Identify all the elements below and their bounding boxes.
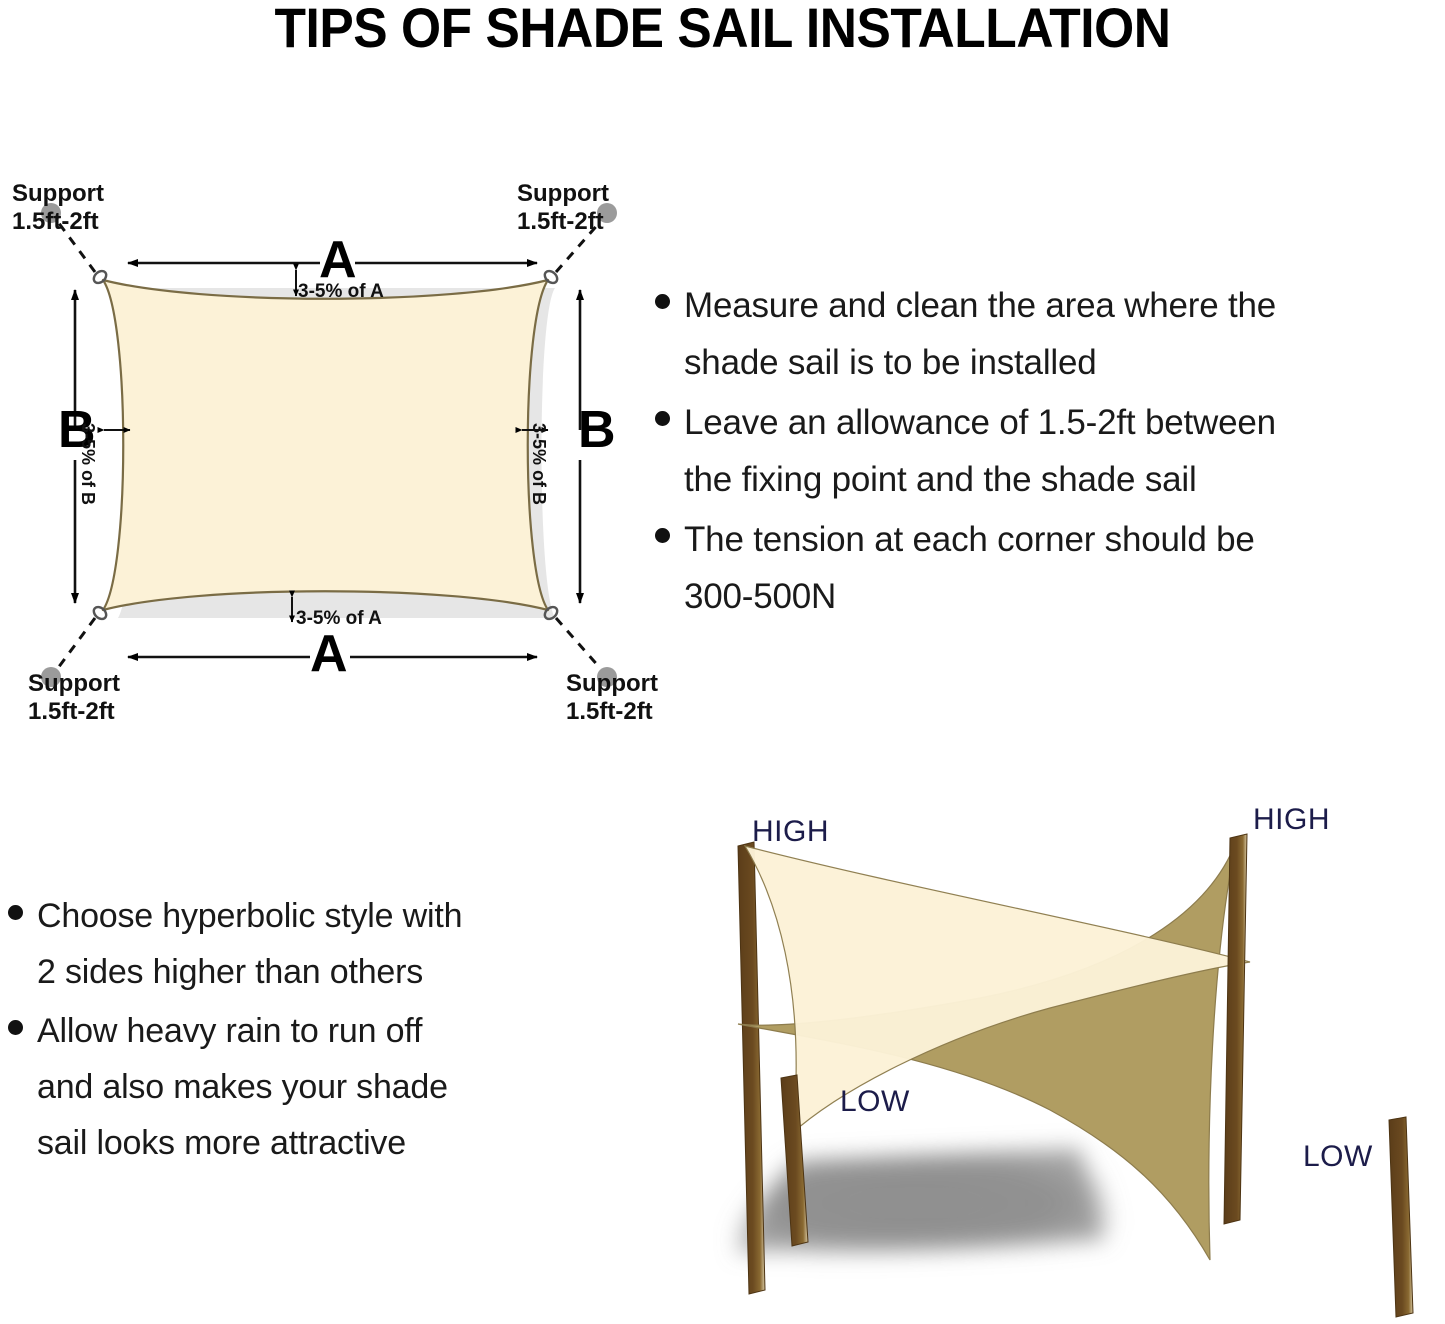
support-label-line2: 1.5ft-2ft xyxy=(566,698,658,726)
support-label-line2: 1.5ft-2ft xyxy=(517,208,609,236)
tip-text: Measure and clean the area where the sha… xyxy=(684,277,1276,391)
support-label-top-right: Support 1.5ft-2ft xyxy=(517,180,609,236)
tip-line: Leave an allowance of 1.5-2ft between xyxy=(684,403,1276,442)
dimension-label-top-a: A xyxy=(319,234,357,286)
tip-line: Allow heavy rain to run off xyxy=(37,1012,422,1050)
tip-line: Choose hyperbolic style with xyxy=(37,897,462,935)
tip-text: Choose hyperbolic style with 2 sides hig… xyxy=(37,888,462,1000)
bullet-dot-icon xyxy=(8,905,23,920)
hyperbolic-shade-sail-illustration xyxy=(650,790,1445,1319)
tip-line: 300-500N xyxy=(684,577,836,616)
curve-label-right: 3-5% of B xyxy=(528,423,549,505)
ground-shadow xyxy=(710,1146,1120,1260)
label-low-left: LOW xyxy=(840,1085,910,1119)
label-high-left: HIGH xyxy=(752,815,829,849)
support-label-top-left: Support 1.5ft-2ft xyxy=(12,180,104,236)
curve-label-bottom: 3-5% of A xyxy=(296,608,382,630)
tip-text: Leave an allowance of 1.5-2ft between th… xyxy=(684,394,1276,508)
list-item: Measure and clean the area where the sha… xyxy=(655,277,1445,391)
tip-line: shade sail is to be installed xyxy=(684,343,1097,382)
list-item: Leave an allowance of 1.5-2ft between th… xyxy=(655,394,1445,508)
support-label-line2: 1.5ft-2ft xyxy=(12,208,104,236)
list-item: Choose hyperbolic style with 2 sides hig… xyxy=(8,888,628,1000)
sail-shape xyxy=(103,280,548,610)
dimension-label-right-b: B xyxy=(578,404,616,456)
bullet-dot-icon xyxy=(8,1020,23,1035)
curve-label-top: 3-5% of A xyxy=(298,281,384,303)
dimension-label-bottom-a: A xyxy=(310,628,348,680)
support-label-bottom-left: Support 1.5ft-2ft xyxy=(28,670,120,726)
support-label-line2: 1.5ft-2ft xyxy=(28,698,120,726)
page-title: TIPS OF SHADE SAIL INSTALLATION xyxy=(58,0,1387,60)
tip-text: Allow heavy rain to run off and also mak… xyxy=(37,1003,448,1171)
tips-list-left: Choose hyperbolic style with 2 sides hig… xyxy=(8,888,628,1174)
support-label-line1: Support xyxy=(28,670,120,698)
list-item: Allow heavy rain to run off and also mak… xyxy=(8,1003,628,1171)
bullet-dot-icon xyxy=(655,411,670,426)
bullet-dot-icon xyxy=(655,528,670,543)
tip-line: Measure and clean the area where the xyxy=(684,286,1276,325)
curve-label-left: 3-5% of B xyxy=(77,423,98,505)
list-item: The tension at each corner should be 300… xyxy=(655,511,1445,625)
tip-line: The tension at each corner should be xyxy=(684,520,1255,559)
support-label-bottom-right: Support 1.5ft-2ft xyxy=(566,670,658,726)
support-label-line1: Support xyxy=(517,180,609,208)
support-label-line1: Support xyxy=(12,180,104,208)
tip-line: 2 sides higher than others xyxy=(37,953,423,991)
tip-text: The tension at each corner should be 300… xyxy=(684,511,1255,625)
tips-list-right: Measure and clean the area where the sha… xyxy=(655,277,1445,628)
support-label-line1: Support xyxy=(566,670,658,698)
tip-line: sail looks more attractive xyxy=(37,1124,406,1162)
bullet-dot-icon xyxy=(655,294,670,309)
label-low-right: LOW xyxy=(1303,1140,1373,1174)
tip-line: the fixing point and the shade sail xyxy=(684,460,1197,499)
tip-line: and also makes your shade xyxy=(37,1068,448,1106)
pole-right-low xyxy=(1389,1117,1413,1317)
label-high-right: HIGH xyxy=(1253,803,1330,837)
